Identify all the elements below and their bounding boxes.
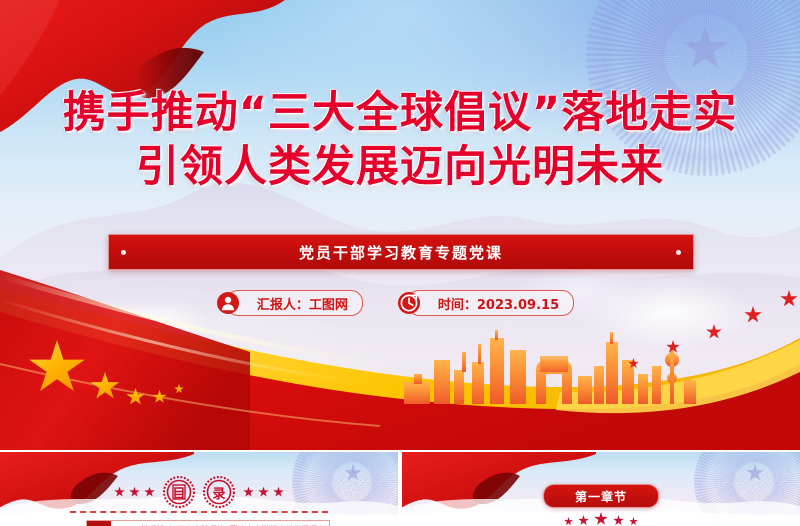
red-star-1	[628, 358, 639, 369]
presenter-label: 汇报人：工图网	[257, 294, 348, 313]
person-icon	[216, 291, 240, 315]
chapter-badge-label: 第一章节	[575, 488, 627, 505]
ribbon-decor	[0, 260, 800, 450]
banner-dot-right-icon	[676, 250, 681, 255]
chapter-star-3	[594, 512, 608, 526]
chapter-badge: 第一章节	[543, 484, 659, 508]
toc-stars-right	[243, 487, 284, 498]
date-label: 时间：2023.09.15	[438, 294, 559, 313]
date-badge[interactable]: 时间：2023.09.15	[407, 290, 574, 316]
toc-entry-tag	[87, 521, 111, 526]
toc-seal-mu-char: 目	[163, 476, 195, 508]
chapter-star-4	[613, 515, 624, 526]
emblem-star-icon	[682, 26, 728, 72]
gold-star-3	[126, 388, 145, 406]
gold-star-group	[28, 334, 218, 410]
title-line-1: 携手推动“三大全球倡议”落地走实	[0, 86, 800, 140]
toc-stars-left	[114, 487, 155, 498]
chapter-star-group	[564, 512, 638, 526]
toc-star-l2	[129, 487, 140, 498]
thumbnail-toc-slide[interactable]: 目 录 携手推动“三大全球倡议”落地走实引领人类	[0, 452, 398, 526]
presenter-badge[interactable]: 汇报人：工图网	[226, 290, 363, 316]
city-skyline-icon	[400, 326, 700, 404]
title-line-2: 引领人类发展迈向光明未来	[0, 140, 800, 194]
toc-star-l1	[114, 487, 125, 498]
chapter-star-2	[578, 515, 589, 526]
subtitle-text: 党员干部学习教育专题党课	[299, 242, 503, 263]
toc-seal-lu-char: 录	[203, 476, 235, 508]
clock-icon	[397, 291, 421, 315]
gold-star-4	[152, 390, 167, 404]
gold-star-1	[28, 340, 86, 396]
toc-star-r2	[258, 487, 269, 498]
thumbnail-strip: 目 录 携手推动“三大全球倡议”落地走实引领人类	[0, 452, 800, 526]
chapter-star-1	[564, 517, 573, 526]
chapter-star-5	[629, 517, 638, 526]
toc-star-r3	[273, 487, 284, 498]
red-star-3	[706, 324, 722, 340]
toc-star-l3	[144, 487, 155, 498]
presentation-deck: 携手推动“三大全球倡议”落地走实 引领人类发展迈向光明未来 党员干部学习教育专题…	[0, 0, 800, 526]
sky-gradient	[0, 0, 800, 450]
subtitle-banner: 党员干部学习教育专题党课	[108, 234, 694, 270]
red-star-2	[666, 340, 680, 354]
thumbnail-chapter-slide[interactable]: 第一章节	[402, 452, 800, 526]
toc-entry-card[interactable]: 携手推动“三大全球倡议”落地走实引领人类发展迈向光明未来	[86, 520, 330, 526]
toc-star-r1	[243, 487, 254, 498]
meta-row: 汇报人：工图网 时间：2023.09.15	[0, 290, 800, 316]
toc-divider	[70, 511, 328, 513]
page-title: 携手推动“三大全球倡议”落地走实 引领人类发展迈向光明未来	[0, 86, 800, 194]
toc-seal-mu: 目	[163, 476, 195, 508]
gold-star-2	[90, 372, 120, 401]
toc-heading-row: 目 录	[0, 476, 398, 508]
toc-seal-lu: 录	[203, 476, 235, 508]
banner-dot-left-icon	[121, 250, 126, 255]
title-slide[interactable]: 携手推动“三大全球倡议”落地走实 引领人类发展迈向光明未来 党员干部学习教育专题…	[0, 0, 800, 450]
cloud-decor-left	[4, 272, 234, 362]
gold-star-5	[174, 384, 184, 394]
